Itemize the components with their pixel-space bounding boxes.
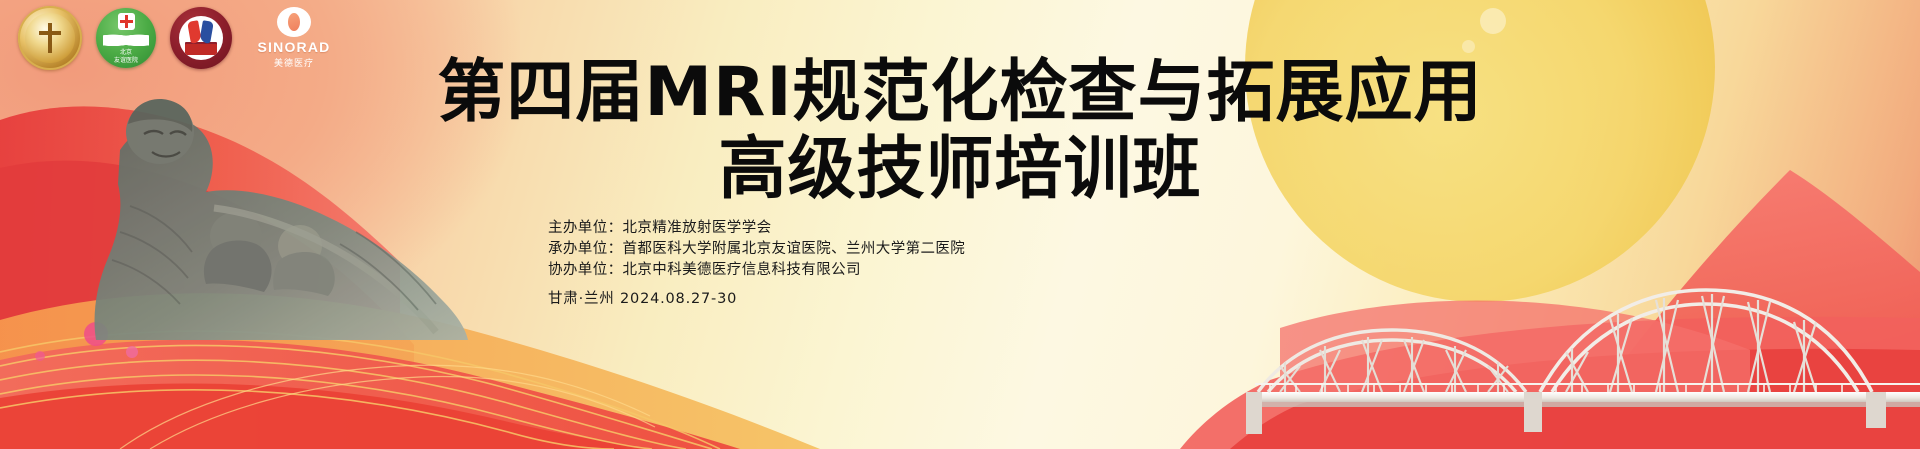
red-cross-icon: [118, 13, 135, 30]
gate-building-icon: [185, 44, 217, 55]
beijing-precision-radiology-society-logo: [18, 6, 82, 70]
medallion-cross-icon: [37, 23, 63, 53]
organizer-line-undertaker: 承办单位：首都医科大学附属北京友谊医院、兰州大学第二医院: [548, 239, 965, 260]
sinorad-logo: SINORAD 美德医疗: [246, 7, 342, 69]
ribbon-icon: [186, 21, 216, 43]
organizer-info: 主办单位：北京精准放射医学学会 承办单位：首都医科大学附属北京友谊医院、兰州大学…: [548, 218, 965, 310]
lanzhou-university-second-hospital-logo: [170, 7, 232, 69]
beijing-friendship-hospital-logo: 北京 友谊医院: [96, 8, 156, 68]
mogao-reclining-buddha-illustration: [80, 99, 480, 360]
sinorad-brand-text: SINORAD: [258, 39, 331, 55]
organizer-line-host: 主办单位：北京精准放射医学学会: [548, 218, 965, 239]
sinorad-eye-icon: [277, 7, 311, 37]
friendship-hospital-label-line2: 友谊医院: [114, 57, 138, 64]
doves-icon: [103, 31, 149, 48]
sinorad-sub-text: 美德医疗: [274, 56, 314, 69]
location-date: 甘肃·兰州 2024.08.27-30: [548, 289, 965, 310]
friendship-hospital-label-line1: 北京: [120, 49, 132, 56]
organizer-line-coorganizer: 协办单位：北京中科美德医疗信息科技有限公司: [548, 260, 965, 281]
conference-banner: 北京 友谊医院 SINORAD 美德医疗 第四届MRI规范化检查与拓展应用 高级…: [0, 0, 1920, 449]
accent-dot-3: [35, 351, 45, 361]
logo-row: 北京 友谊医院 SINORAD 美德医疗: [18, 6, 342, 70]
